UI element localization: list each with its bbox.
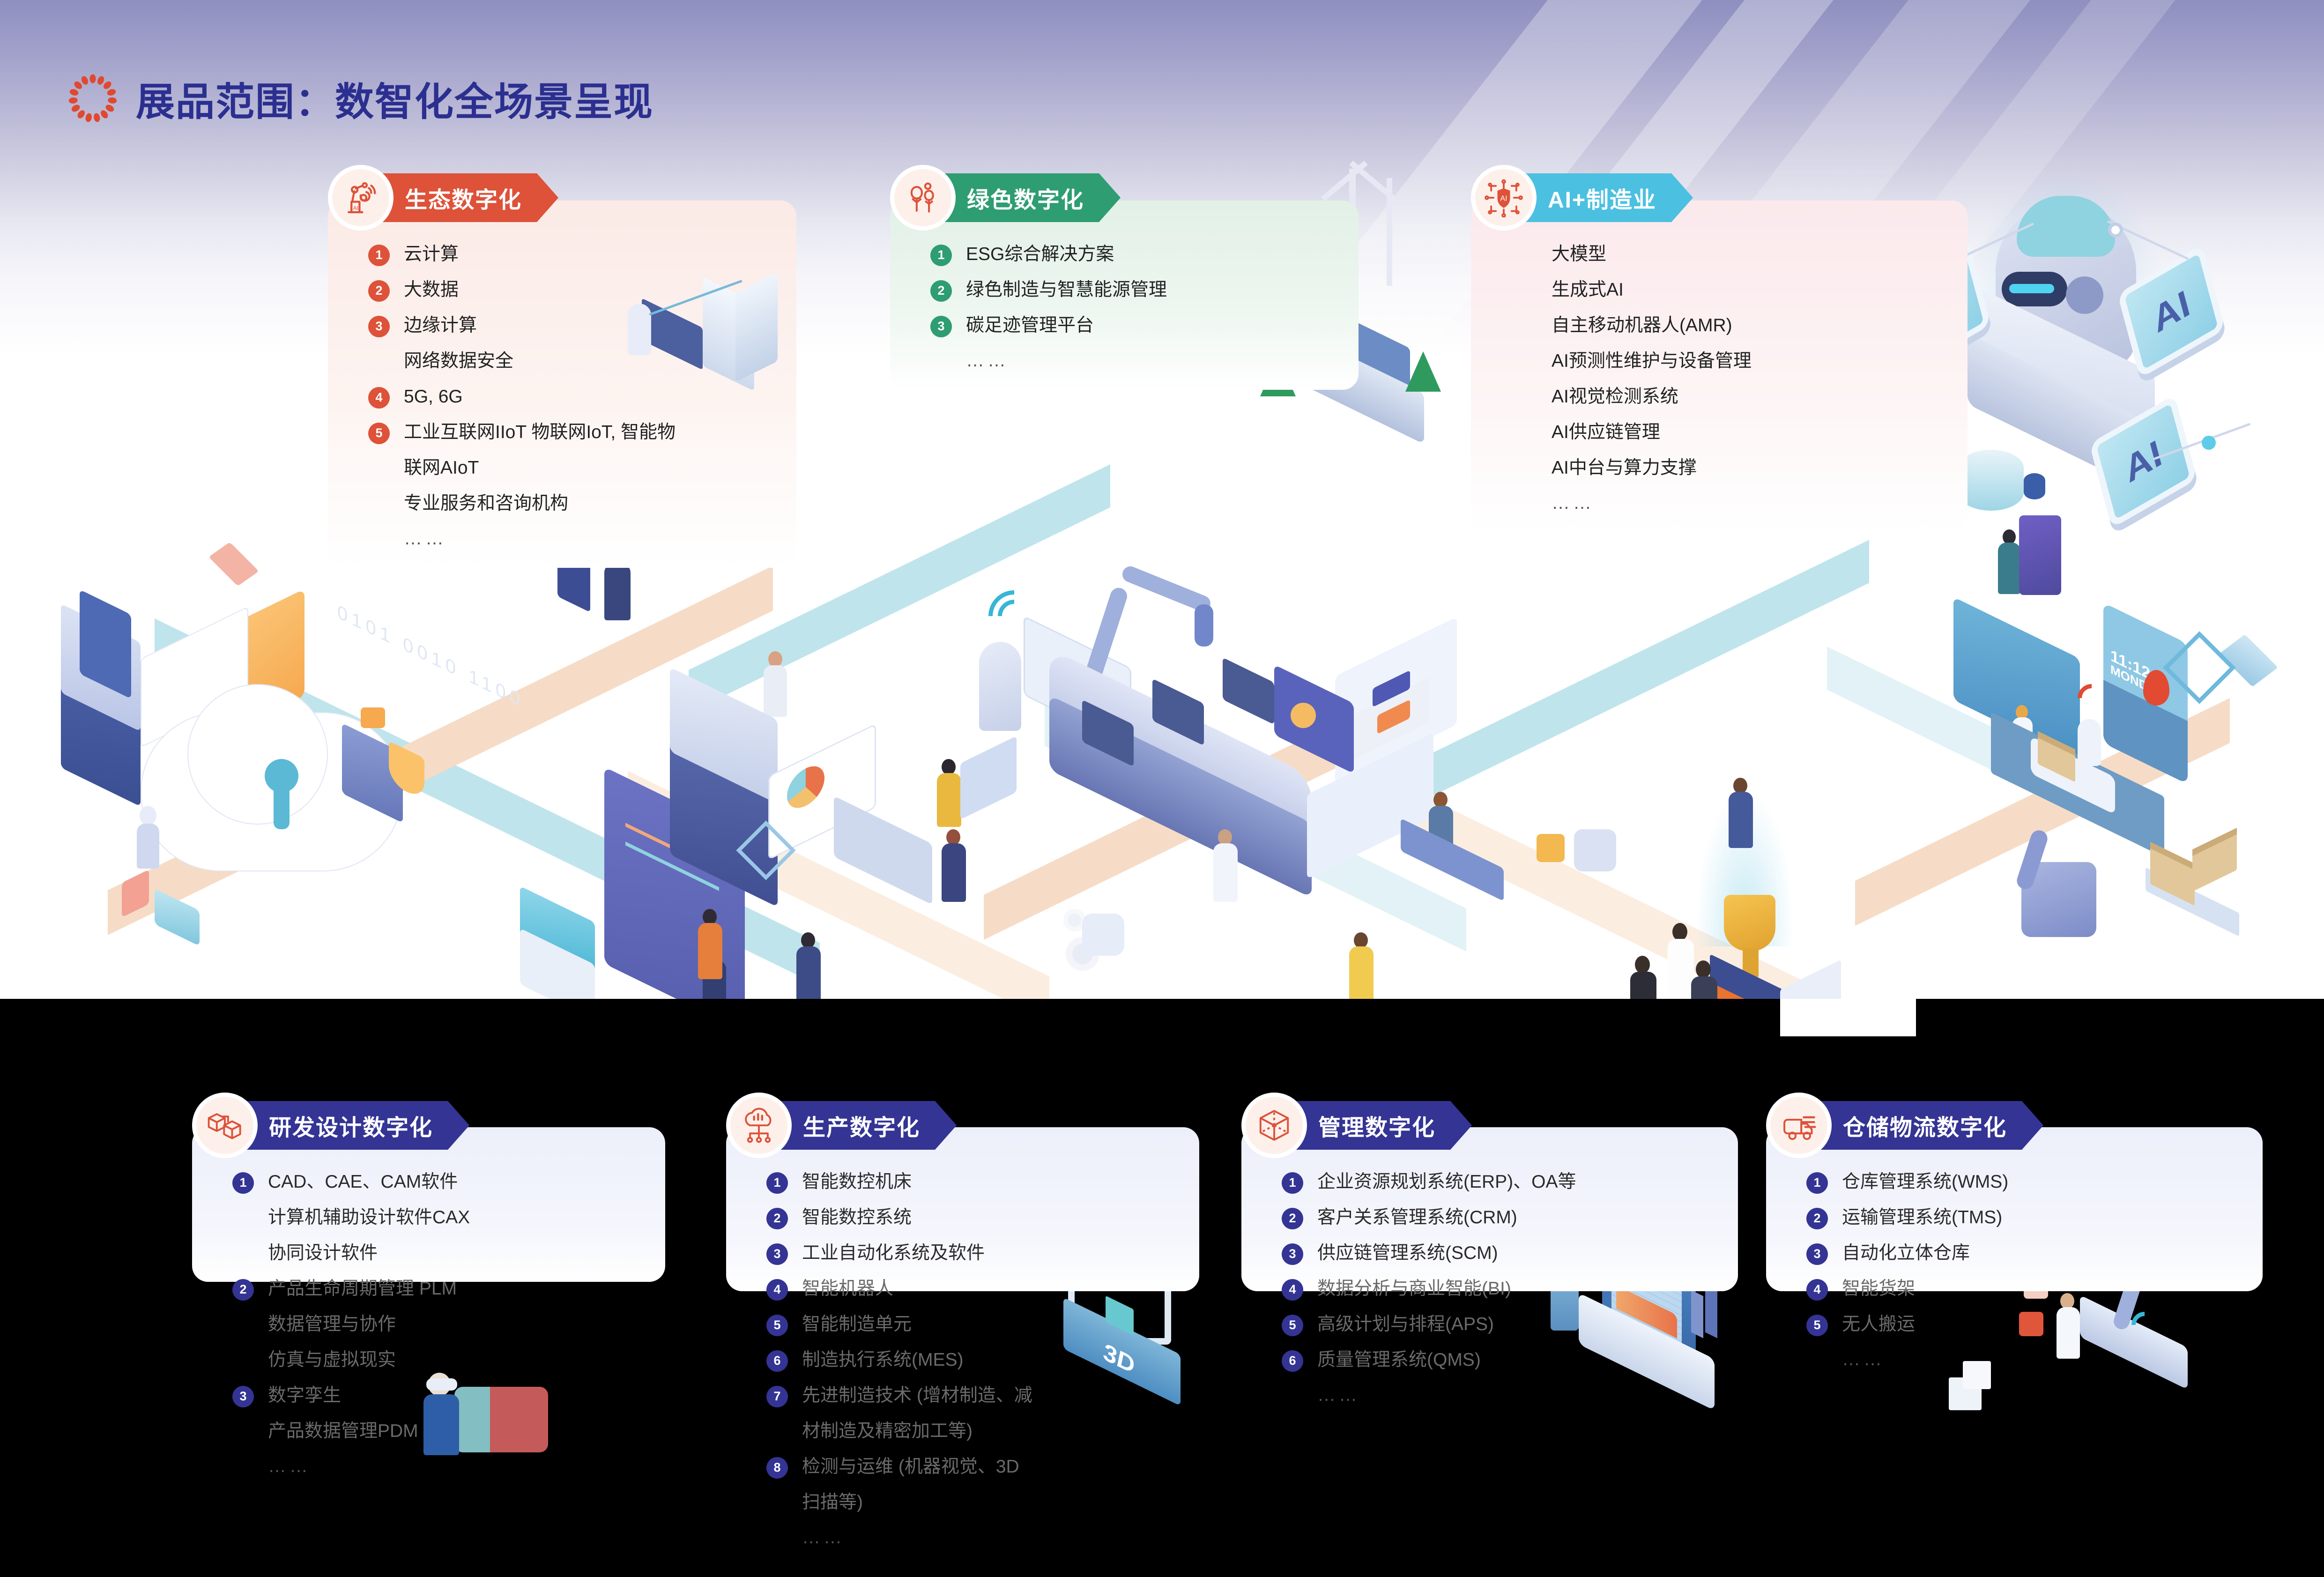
card-header: AI 生态数字化 <box>328 173 796 222</box>
card-title: 生态数字化 <box>369 173 558 222</box>
person-head <box>946 829 960 845</box>
card-warehouse-logistics-digitalization[interactable]: 仓储物流数字化 1仓库管理系统(WMS) 2运输管理系统(TMS) 3自动化立体… <box>1766 1101 2263 1389</box>
list-item[interactable]: 0仿真与虚拟现实 <box>232 1349 665 1372</box>
list-item[interactable]: 8检测与运维 (机器视觉、3D <box>766 1456 1199 1479</box>
card-green-digitalization[interactable]: 绿色数字化 1ESG综合解决方案 2绿色制造与智慧能源管理 3碳足迹管理平台 …… <box>890 173 1359 390</box>
list-text: 工业互联网IIoT 物联网IoT, 智能物 <box>404 422 676 443</box>
list-text: CAD、CAE、CAM软件 <box>268 1171 458 1193</box>
cloud-shape <box>187 684 328 825</box>
list-item[interactable]: 0产品数据管理PDM <box>232 1421 665 1443</box>
card-title: 管理数字化 <box>1283 1101 1472 1150</box>
person-head <box>942 759 956 775</box>
page-header: 展品范围：数智化全场景呈现 <box>70 70 653 126</box>
list-number: 4 <box>1806 1279 1828 1301</box>
list-item[interactable]: 3供应链管理系统(SCM) <box>1282 1242 1738 1265</box>
list-text: ESG综合解决方案 <box>966 244 1114 265</box>
list-item[interactable]: 4数据分析与商业智能(BI) <box>1282 1278 1738 1301</box>
list-number: 2 <box>1806 1208 1828 1229</box>
robot-head <box>140 806 156 826</box>
page-title: 展品范围：数智化全场景呈现 <box>136 70 653 126</box>
card-item-list: 1云计算 2大数据 3边缘计算 0网络数据安全 45G, 6G 5工业互联网II… <box>368 244 778 549</box>
more-indicator: …… <box>1317 1385 1738 1406</box>
person-head <box>1354 932 1368 948</box>
list-number: 1 <box>232 1172 254 1194</box>
list-text: AI视觉检测系统 <box>1552 386 1678 408</box>
card-management-digitalization[interactable]: 管理数字化 1企业资源规划系统(ERP)、OA等 2客户关系管理系统(CRM) … <box>1241 1101 1738 1424</box>
list-text: 智能制造单元 <box>802 1314 912 1335</box>
list-text: 大数据 <box>404 279 459 301</box>
list-item[interactable]: 0生成式AI <box>1516 279 1968 302</box>
card-production-digitalization[interactable]: 生产数字化 1智能数控机床 2智能数控系统 3工业自动化系统及软件 4智能机器人… <box>726 1101 1199 1567</box>
list-item[interactable]: 5无人搬运 <box>1806 1314 2263 1336</box>
card-header: 仓储物流数字化 <box>1766 1101 2263 1150</box>
card-item-list: 1仓库管理系统(WMS) 2运输管理系统(TMS) 3自动化立体仓库 4智能货架… <box>1806 1171 2263 1370</box>
list-number: 5 <box>368 423 390 444</box>
dotted-circle-icon <box>70 76 115 121</box>
card-item-list: 1企业资源规划系统(ERP)、OA等 2客户关系管理系统(CRM) 3供应链管理… <box>1282 1171 1738 1406</box>
list-text: 扫描等) <box>802 1492 863 1513</box>
person-head <box>1672 923 1687 941</box>
list-number: 5 <box>766 1315 788 1336</box>
list-text: 数据分析与商业智能(BI) <box>1317 1278 1511 1300</box>
list-text: 碳足迹管理平台 <box>966 315 1094 336</box>
list-text: 先进制造技术 (增材制造、减 <box>802 1385 1032 1406</box>
card-title: 绿色数字化 <box>931 173 1121 222</box>
list-item[interactable]: 0协同设计软件 <box>232 1242 665 1265</box>
list-text: 产品生命周期管理 PLM <box>268 1278 457 1300</box>
person-head <box>1733 778 1747 794</box>
kiosk-screen <box>2019 515 2061 595</box>
card-title: AI+制造业 <box>1512 173 1693 222</box>
person-head <box>1433 792 1448 808</box>
list-number: 4 <box>1282 1279 1303 1301</box>
list-text: AI供应链管理 <box>1552 422 1660 443</box>
list-item[interactable]: 2运输管理系统(TMS) <box>1806 1207 2263 1229</box>
list-item[interactable]: 0扫描等) <box>766 1492 1199 1514</box>
list-item[interactable]: 7先进制造技术 (增材制造、减 <box>766 1385 1199 1407</box>
list-text: 网络数据安全 <box>404 350 513 372</box>
list-number: 1 <box>1282 1172 1303 1194</box>
card-header: 研发设计数字化 <box>192 1101 665 1150</box>
list-item[interactable]: 4智能机器人 <box>766 1278 1199 1301</box>
lock-icon <box>361 707 385 728</box>
card-rd-design-digitalization[interactable]: 研发设计数字化 1CAD、CAE、CAM软件 0计算机辅助设计软件CAX 0协同… <box>192 1101 665 1495</box>
person-body <box>937 773 961 827</box>
list-item[interactable]: 0材制造及精密加工等) <box>766 1421 1199 1443</box>
list-number: 6 <box>1282 1350 1303 1372</box>
circuit-node <box>2108 223 2123 238</box>
trophy-cup <box>1724 895 1775 951</box>
list-item[interactable]: 0联网AIoT <box>368 457 778 480</box>
list-number: 8 <box>766 1457 788 1479</box>
keyhole-icon <box>274 782 290 829</box>
robot-worker <box>979 642 1021 731</box>
list-item[interactable]: 0AI预测性维护与设备管理 <box>1516 350 1968 373</box>
list-item[interactable]: 2绿色制造与智慧能源管理 <box>930 279 1359 302</box>
list-item[interactable]: 6制造执行系统(MES) <box>766 1349 1199 1372</box>
ai-chip-shield-icon: AI <box>1471 165 1537 231</box>
data-cylinder <box>1958 450 2024 511</box>
more-indicator: …… <box>1552 493 1968 513</box>
logistics-cluster: 11:12 MONDAY <box>1944 600 2324 999</box>
list-item[interactable]: 1智能数控机床 <box>766 1171 1199 1194</box>
list-item[interactable]: 0自主移动机器人(AMR) <box>1516 315 1968 337</box>
cloud-security-cluster <box>80 553 501 928</box>
two-cubes-icon <box>192 1093 258 1158</box>
list-item[interactable]: 1仓库管理系统(WMS) <box>1806 1171 2263 1194</box>
svg-text:AI: AI <box>1500 195 1507 203</box>
person-body <box>796 946 821 999</box>
list-number: 5 <box>1806 1315 1828 1336</box>
robot-visor <box>2002 272 2067 306</box>
teal-cube <box>155 889 200 946</box>
data-cylinder-small <box>2024 473 2045 499</box>
list-text: 数据管理与协作 <box>268 1314 396 1335</box>
list-item[interactable]: 1云计算 <box>368 244 778 266</box>
card-item-list: 1ESG综合解决方案 2绿色制造与智慧能源管理 3碳足迹管理平台 …… <box>930 244 1359 371</box>
list-item[interactable]: 0网络数据安全 <box>368 350 778 373</box>
list-text: 专业服务和咨询机构 <box>404 493 568 514</box>
trophy-award-cluster <box>1583 843 1911 999</box>
card-body: 1CAD、CAE、CAM软件 0计算机辅助设计软件CAX 0协同设计软件 2产品… <box>192 1128 665 1495</box>
person-body <box>1668 939 1694 999</box>
list-item[interactable]: 2大数据 <box>368 279 778 302</box>
list-number: 5 <box>1282 1315 1303 1336</box>
person-body <box>1630 972 1656 999</box>
delivery-truck-icon <box>1766 1093 1832 1158</box>
robot-arm-gear-wifi-icon: AI <box>328 165 394 231</box>
more-indicator: …… <box>1842 1349 2263 1370</box>
person-head <box>1696 960 1711 978</box>
red-cube <box>208 542 259 586</box>
list-text: 自主移动机器人(AMR) <box>1552 315 1732 336</box>
cube-outline-icon <box>1241 1093 1307 1158</box>
robot-ear <box>2066 276 2103 314</box>
list-item[interactable]: 0AI中台与算力支撑 <box>1516 457 1968 480</box>
red-arrow-marker <box>122 870 149 917</box>
svg-text:AI: AI <box>353 205 358 211</box>
list-item[interactable]: 2智能数控系统 <box>766 1207 1199 1229</box>
more-indicator: …… <box>268 1456 665 1477</box>
list-text: 供应链管理系统(SCM) <box>1317 1242 1498 1264</box>
list-item[interactable]: 5工业互联网IIoT 物联网IoT, 智能物 <box>368 422 778 444</box>
list-item[interactable]: 1ESG综合解决方案 <box>930 244 1359 266</box>
list-text: 自动化立体仓库 <box>1842 1242 1970 1264</box>
list-number: 1 <box>1806 1172 1828 1194</box>
list-number: 3 <box>1806 1243 1828 1265</box>
list-number: 1 <box>766 1172 788 1194</box>
list-text: 运输管理系统(TMS) <box>1842 1207 2002 1228</box>
list-item[interactable]: 5智能制造单元 <box>766 1314 1199 1336</box>
list-item[interactable]: 5高级计划与排程(APS) <box>1282 1314 1738 1336</box>
more-indicator: …… <box>966 350 1359 371</box>
list-number: 2 <box>1282 1208 1303 1229</box>
list-text: 仓库管理系统(WMS) <box>1842 1171 2008 1193</box>
person-body <box>698 923 722 979</box>
list-item[interactable]: 0计算机辅助设计软件CAX <box>232 1207 665 1229</box>
list-text: AI中台与算力支撑 <box>1552 457 1697 479</box>
list-text: 大模型 <box>1552 244 1606 265</box>
list-item[interactable]: 6质量管理系统(QMS) <box>1282 1349 1738 1372</box>
card-body: 1智能数控机床 2智能数控系统 3工业自动化系统及软件 4智能机器人 5智能制造… <box>726 1128 1199 1567</box>
person-body <box>1998 543 2020 594</box>
person-body <box>1691 976 1717 999</box>
small-robot <box>1082 914 1124 956</box>
list-text: 智能机器人 <box>802 1278 893 1300</box>
list-number: 4 <box>766 1279 788 1301</box>
person-body <box>1349 946 1374 999</box>
person-head <box>703 909 717 925</box>
list-text: 协同设计软件 <box>268 1242 378 1264</box>
person-head <box>768 651 782 667</box>
list-text: AI预测性维护与设备管理 <box>1552 350 1752 372</box>
list-number: 2 <box>766 1208 788 1229</box>
list-item[interactable]: 2客户关系管理系统(CRM) <box>1282 1207 1738 1229</box>
person-body <box>1213 843 1238 902</box>
wind-turbine <box>1387 178 1392 286</box>
list-text: 无人搬运 <box>1842 1314 1915 1335</box>
card-title: 仓储物流数字化 <box>1807 1101 2043 1150</box>
list-item[interactable]: 0数据管理与协作 <box>232 1314 665 1336</box>
list-number: 7 <box>766 1386 788 1407</box>
person-body <box>1729 792 1753 848</box>
gear-icon <box>1291 703 1316 728</box>
list-number: 2 <box>368 280 390 302</box>
white-cube <box>1780 960 1841 999</box>
list-item[interactable]: 1企业资源规划系统(ERP)、OA等 <box>1282 1171 1738 1194</box>
list-item[interactable]: 45G, 6G <box>368 386 778 409</box>
list-item[interactable]: 0AI供应链管理 <box>1516 422 1968 444</box>
list-item[interactable]: 3边缘计算 <box>368 315 778 337</box>
tablet-screen <box>960 736 1017 820</box>
person-head <box>1635 956 1650 974</box>
card-item-list: 0大模型 0生成式AI 0自主移动机器人(AMR) 0AI预测性维护与设备管理 … <box>1516 244 1968 513</box>
list-number: 2 <box>232 1279 254 1301</box>
card-body: 1云计算 2大数据 3边缘计算 0网络数据安全 45G, 6G 5工业互联网II… <box>328 201 796 568</box>
list-text: 智能数控机床 <box>802 1171 912 1193</box>
card-item-list: 1CAD、CAE、CAM软件 0计算机辅助设计软件CAX 0协同设计软件 2产品… <box>232 1171 665 1477</box>
list-item[interactable]: 1CAD、CAE、CAM软件 <box>232 1171 665 1194</box>
card-body: 1企业资源规划系统(ERP)、OA等 2客户关系管理系统(CRM) 3供应链管理… <box>1241 1128 1738 1424</box>
more-indicator: …… <box>802 1527 1199 1548</box>
list-item[interactable]: 3自动化立体仓库 <box>1806 1242 2263 1265</box>
card-body: 0大模型 0生成式AI 0自主移动机器人(AMR) 0AI预测性维护与设备管理 … <box>1471 201 1968 532</box>
list-number: 2 <box>930 280 952 302</box>
list-text: 产品数据管理PDM <box>268 1421 418 1442</box>
list-text: 智能数控系统 <box>802 1207 912 1228</box>
list-number: 6 <box>766 1350 788 1372</box>
puzzle-piece-icon <box>1537 834 1565 862</box>
list-text: 智能货架 <box>1842 1278 1915 1300</box>
card-header: 生产数字化 <box>726 1101 1199 1150</box>
list-item[interactable]: 3工业自动化系统及软件 <box>766 1242 1199 1265</box>
tree-icon <box>1405 351 1441 392</box>
service-robot <box>2078 719 2101 766</box>
list-number: 3 <box>930 316 952 337</box>
circuit-node <box>2202 436 2216 450</box>
card-ecological-digitalization[interactable]: AI 生态数字化 1云计算 2大数据 3边缘计算 0网络数据安全 45G, 6G… <box>328 173 796 568</box>
list-number: 3 <box>766 1243 788 1265</box>
list-text: 高级计划与排程(APS) <box>1317 1314 1494 1335</box>
list-text: 仿真与虚拟现实 <box>268 1349 396 1371</box>
card-title: 研发设计数字化 <box>233 1101 469 1150</box>
list-text: 客户关系管理系统(CRM) <box>1317 1207 1517 1228</box>
card-ai-manufacturing[interactable]: AI AI+制造业 0大模型 0生成式AI 0自主移动机器人(AMR) 0AI预… <box>1471 173 1968 532</box>
list-item[interactable]: 2产品生命周期管理 PLM <box>232 1278 665 1301</box>
card-header: 管理数字化 <box>1241 1101 1738 1150</box>
list-text: 企业资源规划系统(ERP)、OA等 <box>1317 1171 1576 1193</box>
list-text: 质量管理系统(QMS) <box>1317 1349 1481 1371</box>
list-text: 数字孪生 <box>268 1385 341 1406</box>
person-body <box>764 665 787 717</box>
list-item[interactable]: 3数字孪生 <box>232 1385 665 1407</box>
list-text: 材制造及精密加工等) <box>802 1421 973 1442</box>
list-number: 1 <box>930 245 952 266</box>
card-header: AI AI+制造业 <box>1471 173 1968 222</box>
list-number: 3 <box>368 316 390 337</box>
list-text: 生成式AI <box>1552 279 1624 301</box>
list-number: 4 <box>368 387 390 409</box>
person-head <box>801 932 815 948</box>
person-body <box>604 564 631 620</box>
list-text: 制造执行系统(MES) <box>802 1349 964 1371</box>
list-text: 云计算 <box>404 244 459 265</box>
card-item-list: 1智能数控机床 2智能数控系统 3工业自动化系统及软件 4智能机器人 5智能制造… <box>766 1171 1199 1548</box>
robot-body <box>137 824 159 869</box>
card-header: 绿色数字化 <box>890 173 1359 222</box>
list-item[interactable]: 0AI视觉检测系统 <box>1516 386 1968 409</box>
list-item[interactable]: 0大模型 <box>1516 244 1968 266</box>
list-number: 1 <box>368 245 390 266</box>
list-item[interactable]: 3碳足迹管理平台 <box>930 315 1359 337</box>
illustration-overhang <box>1780 999 1916 1036</box>
list-item[interactable]: 0专业服务和咨询机构 <box>368 493 778 515</box>
card-title: 生产数字化 <box>767 1101 957 1150</box>
list-number: 3 <box>1282 1243 1303 1265</box>
person-body <box>942 843 966 902</box>
robotic-arm-head <box>1195 604 1213 647</box>
carton-box <box>2192 828 2237 892</box>
two-trees-icon <box>890 165 956 231</box>
card-body: 1ESG综合解决方案 2绿色制造与智慧能源管理 3碳足迹管理平台 …… <box>890 201 1359 390</box>
more-indicator: …… <box>404 528 778 549</box>
cloud-chart-icon <box>726 1093 792 1158</box>
list-text: 5G, 6G <box>404 386 463 408</box>
laptop <box>834 796 932 905</box>
list-text: 绿色制造与智慧能源管理 <box>966 279 1167 301</box>
list-text: 工业自动化系统及软件 <box>802 1242 985 1264</box>
list-number: 3 <box>232 1386 254 1407</box>
list-text: 联网AIoT <box>404 457 479 479</box>
list-text: 计算机辅助设计软件CAX <box>268 1207 470 1228</box>
list-text: 边缘计算 <box>404 315 477 336</box>
list-text: 检测与运维 (机器视觉、3D <box>802 1456 1019 1478</box>
list-item[interactable]: 4智能货架 <box>1806 1278 2263 1301</box>
person-head <box>1218 829 1232 845</box>
